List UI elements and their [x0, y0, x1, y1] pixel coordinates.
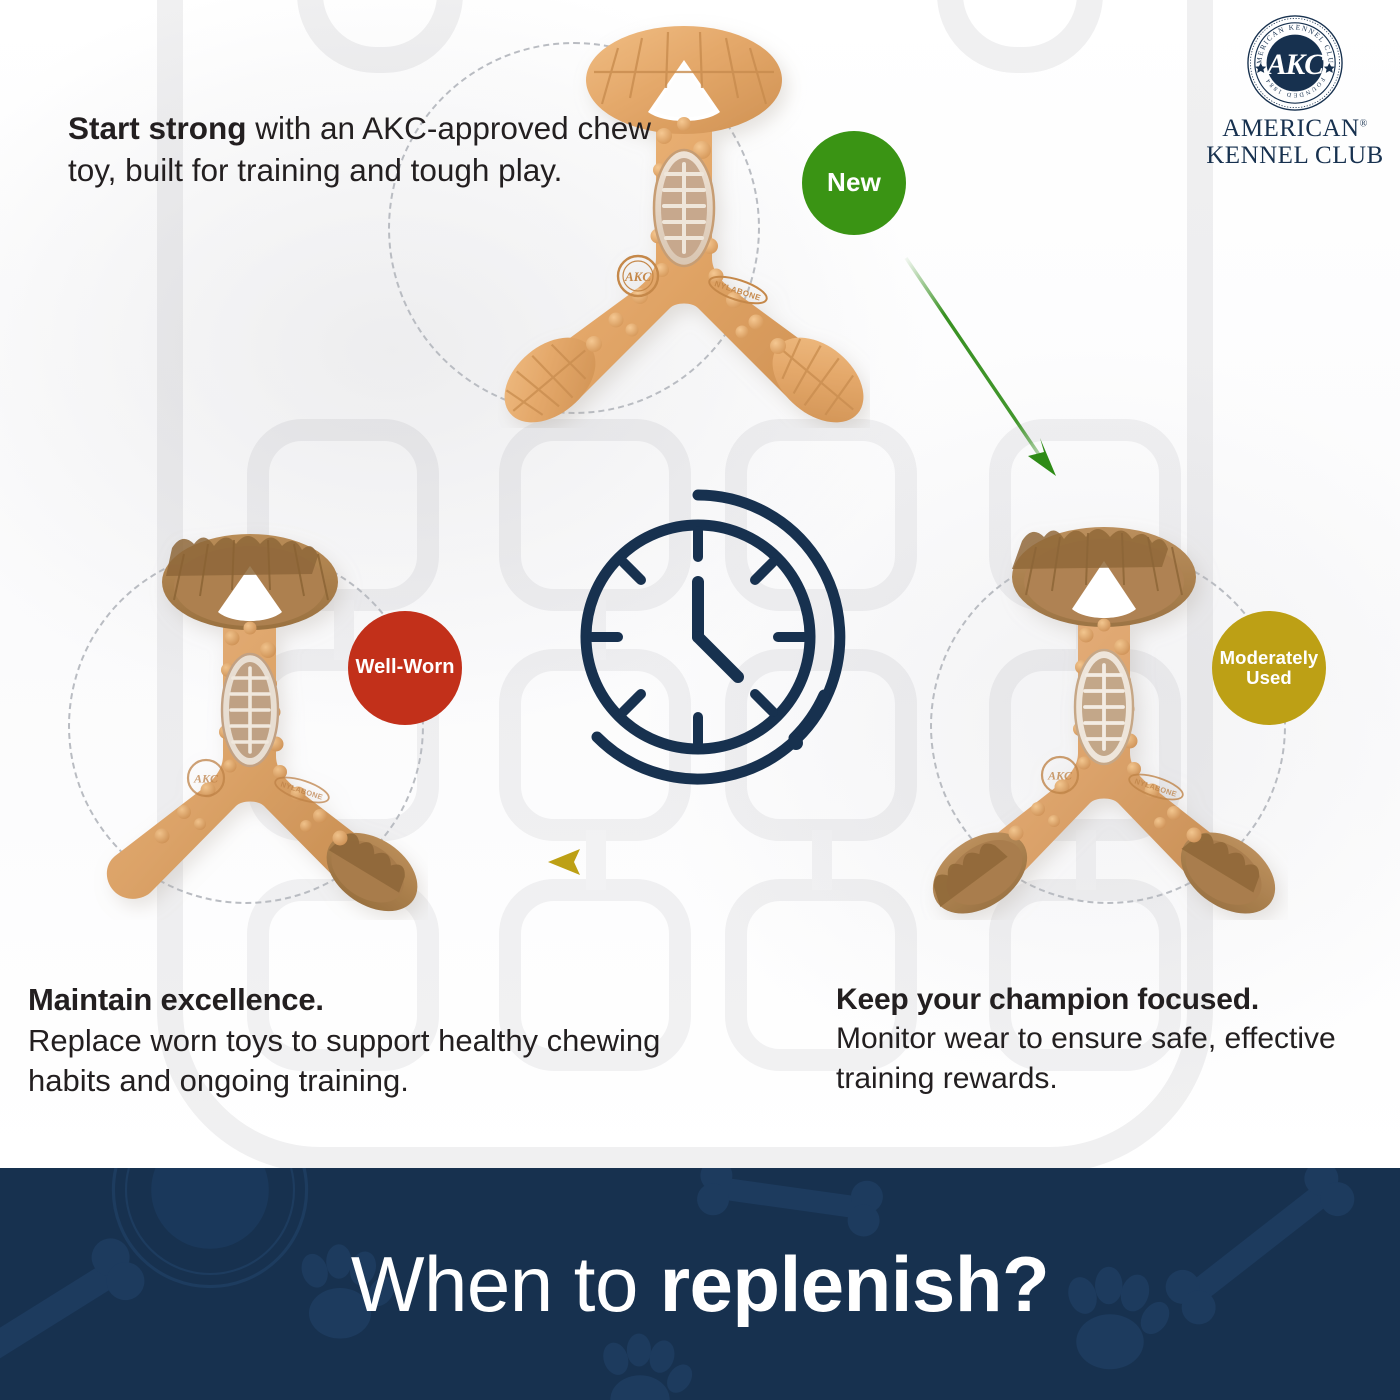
- status-badge-moderately-used-label: Moderately Used: [1218, 648, 1320, 687]
- svg-text:AKC: AKC: [1265, 49, 1324, 81]
- callout-br-body: Monitor wear to ensure safe, effective t…: [836, 1019, 1381, 1098]
- callout-bl-body: Replace worn toys to support healthy che…: [28, 1021, 738, 1102]
- status-badge-new: New: [802, 131, 906, 235]
- akc-seal-icon: AMERICAN KENNEL CLUB FOUNDED 1884 AKC: [1246, 14, 1344, 112]
- footer-banner: When toreplenish?: [0, 1168, 1400, 1400]
- callout-top-headline: Start strong: [68, 110, 247, 146]
- logo-line-1: AMERICAN: [1222, 115, 1359, 142]
- status-badge-well-worn-label: Well-Worn: [355, 657, 454, 678]
- callout-bl-headline: Maintain excellence.: [28, 980, 738, 1021]
- callout-text-bottom-right: Keep your champion focused. Monitor wear…: [836, 980, 1381, 1098]
- akc-wordmark: AMERICAN® KENNEL CLUB: [1206, 116, 1384, 168]
- infographic-canvas: AMERICAN KENNEL CLUB FOUNDED 1884 AKC AM…: [0, 0, 1400, 1400]
- akc-logo: AMERICAN KENNEL CLUB FOUNDED 1884 AKC AM…: [1206, 14, 1384, 168]
- arrow-new-to-moderate: [906, 258, 1056, 476]
- callout-br-headline: Keep your champion focused.: [836, 980, 1381, 1019]
- callout-text-top: Start strong with an AKC-approved chew t…: [68, 108, 668, 192]
- logo-line-2: KENNEL CLUB: [1206, 143, 1384, 169]
- clock-icon: [548, 487, 848, 787]
- banner-title: When toreplenish?: [0, 1168, 1400, 1400]
- callout-text-bottom-left: Maintain excellence. Replace worn toys t…: [28, 980, 738, 1102]
- svg-text:AKC: AKC: [193, 772, 219, 786]
- status-badge-well-worn: Well-Worn: [348, 611, 462, 725]
- status-badge-moderately-used: Moderately Used: [1212, 611, 1326, 725]
- banner-title-light: When to: [351, 1239, 638, 1330]
- svg-text:AKC: AKC: [624, 269, 651, 284]
- product-image-toy-new: AKC NYLABONE: [498, 8, 870, 428]
- arrow-moderate-to-wellworn: [548, 849, 852, 875]
- registered-mark: ®: [1360, 119, 1368, 130]
- svg-text:AKC: AKC: [1047, 769, 1073, 783]
- banner-title-bold: replenish?: [660, 1239, 1049, 1330]
- status-badge-new-label: New: [827, 169, 881, 197]
